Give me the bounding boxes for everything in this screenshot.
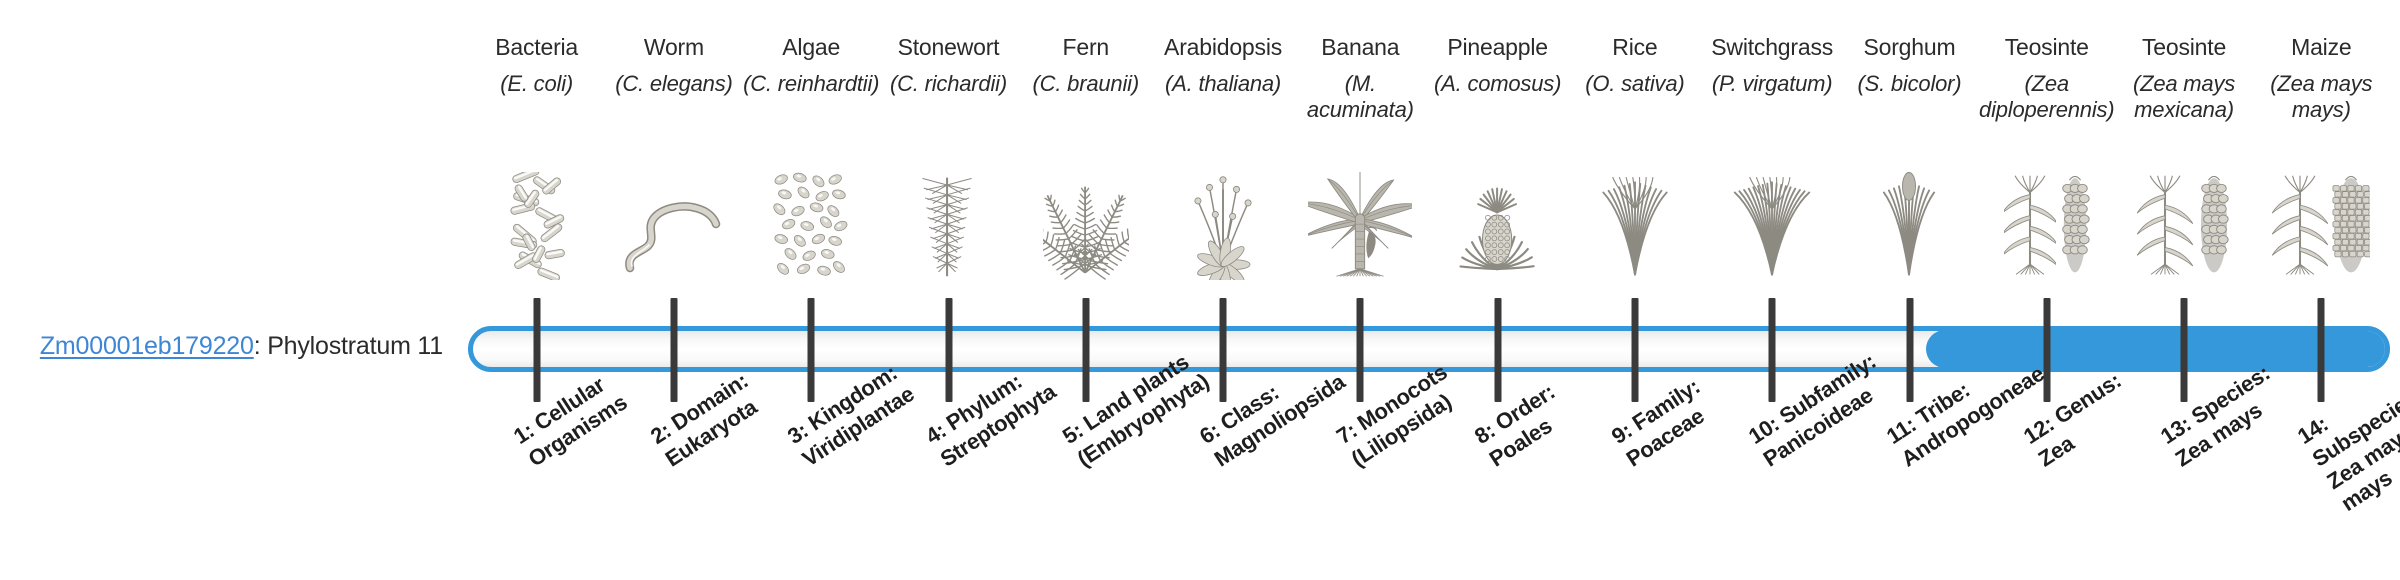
species-common-name: Banana xyxy=(1321,34,1399,62)
species-column: Arabidopsis(A. thaliana) xyxy=(1154,34,1291,184)
species-common-name: Teosinte xyxy=(2005,34,2089,62)
species-column: Teosinte(Zea mays mexicana) xyxy=(2115,34,2252,184)
gene-id-link[interactable]: Zm00001eb179220 xyxy=(40,332,254,360)
species-scientific-name: (Zea mays mays) xyxy=(2253,71,2390,123)
species-common-name: Arabidopsis xyxy=(1164,34,1282,62)
species-column: Banana(M. acuminata) xyxy=(1292,34,1429,184)
species-scientific-name: (M. acuminata) xyxy=(1292,71,1429,123)
species-column: Worm(C. elegans) xyxy=(605,34,742,184)
stonewort-icon xyxy=(880,168,1017,280)
species-common-name: Maize xyxy=(2291,34,2351,62)
species-scientific-name: (O. sativa) xyxy=(1585,71,1684,97)
fern-frond-icon xyxy=(1017,168,1154,280)
species-common-name: Bacteria xyxy=(495,34,578,62)
species-scientific-name: (S. bicolor) xyxy=(1857,71,1961,97)
species-scientific-name: (P. virgatum) xyxy=(1712,71,1832,97)
species-column: Stonewort(C. richardii) xyxy=(880,34,1017,184)
rice-plant-icon xyxy=(1566,168,1703,280)
species-column: Switchgrass(P. virgatum) xyxy=(1704,34,1841,184)
species-column: Rice(O. sativa) xyxy=(1566,34,1703,184)
gene-phylostratum-label: Zm00001eb179220: Phylostratum 11 xyxy=(0,332,455,361)
species-scientific-name: (C. richardii) xyxy=(890,71,1007,97)
species-column: Teosinte(Zea diploperennis) xyxy=(1978,34,2115,184)
species-common-name: Switchgrass xyxy=(1711,34,1833,62)
species-common-name: Teosinte xyxy=(2142,34,2226,62)
species-column: Sorghum(S. bicolor) xyxy=(1841,34,1978,184)
gene-label-separator: : xyxy=(254,332,268,360)
species-scientific-name: (C. braunii) xyxy=(1033,71,1139,97)
species-scientific-name: (E. coli) xyxy=(500,71,573,97)
species-column: Pineapple(A. comosus) xyxy=(1429,34,1566,184)
nematode-worm-icon xyxy=(605,168,742,280)
taxonomic-rank-row: 1: Cellular Organisms2: Domain: Eukaryot… xyxy=(468,428,2390,580)
species-scientific-name: (C. reinhardtii) xyxy=(743,71,879,97)
switchgrass-icon xyxy=(1704,168,1841,280)
species-scientific-name: (C. elegans) xyxy=(615,71,732,97)
species-common-name: Pineapple xyxy=(1447,34,1548,62)
organism-illustration-row xyxy=(468,168,2390,280)
algae-cells-icon xyxy=(743,168,880,280)
species-scientific-name: (Zea mays mexicana) xyxy=(2115,71,2252,123)
species-header-row: Bacteria(E. coli)Worm(C. elegans)Algae(C… xyxy=(468,34,2390,184)
maize-icon xyxy=(2253,168,2390,280)
species-common-name: Algae xyxy=(782,34,840,62)
species-common-name: Rice xyxy=(1612,34,1657,62)
species-common-name: Sorghum xyxy=(1863,34,1955,62)
species-common-name: Stonewort xyxy=(898,34,1000,62)
phylostratum-value-text: Phylostratum 11 xyxy=(267,332,443,360)
phylostratum-figure: Zm00001eb179220: Phylostratum 11 Bacteri… xyxy=(0,0,2400,580)
species-column: Bacteria(E. coli) xyxy=(468,34,605,184)
species-column: Maize(Zea mays mays) xyxy=(2253,34,2390,184)
pineapple-icon xyxy=(1429,168,1566,280)
species-column: Algae(C. reinhardtii) xyxy=(743,34,880,184)
banana-plant-icon xyxy=(1292,168,1429,280)
species-common-name: Worm xyxy=(644,34,704,62)
species-scientific-name: (A. thaliana) xyxy=(1165,71,1281,97)
teosinte-diplo-icon xyxy=(1978,168,2115,280)
sorghum-icon xyxy=(1841,168,1978,280)
teosinte-mexicana-icon xyxy=(2115,168,2252,280)
species-scientific-name: (A. comosus) xyxy=(1434,71,1561,97)
species-column: Fern(C. braunii) xyxy=(1017,34,1154,184)
arabidopsis-icon xyxy=(1154,168,1291,280)
species-scientific-name: (Zea diploperennis) xyxy=(1978,71,2115,123)
bacteria-rods-icon xyxy=(468,168,605,280)
species-common-name: Fern xyxy=(1063,34,1110,62)
